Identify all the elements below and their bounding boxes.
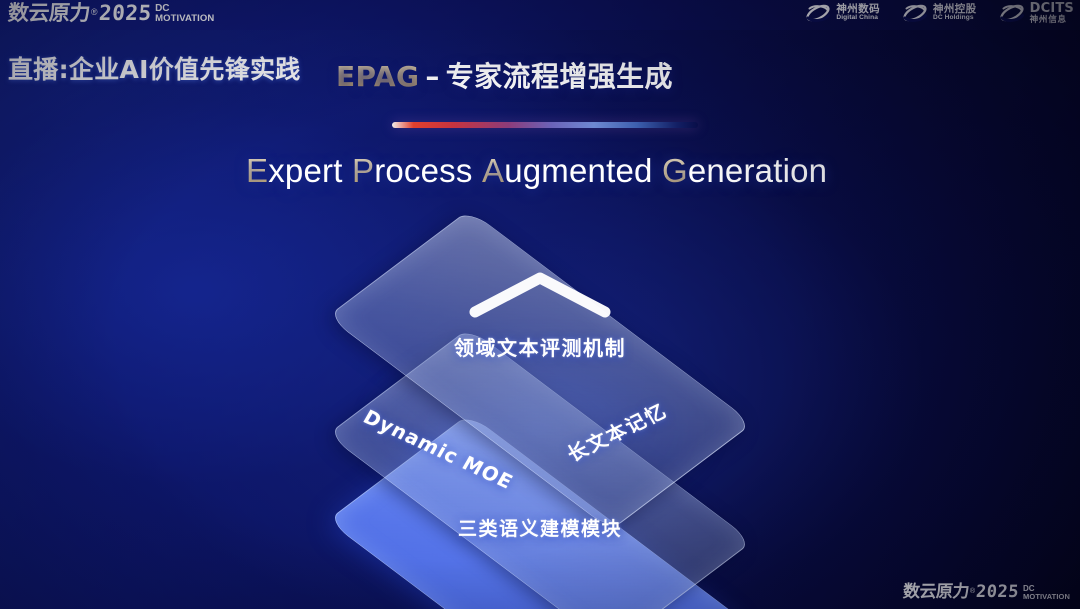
partner-logo-dcits: DCITS 神州信息 bbox=[999, 2, 1074, 24]
brand-logo-top: 数云原力® 2025 DC MOTIVATION bbox=[8, 3, 214, 24]
brand-year: 2025 bbox=[98, 3, 152, 24]
partner-logo-dc-holdings: 神州控股 DC Holdings bbox=[902, 2, 977, 24]
partner-logo-text: 神州数码 Digital China bbox=[836, 4, 880, 21]
partner-name-en: Digital China bbox=[836, 15, 880, 22]
title-separator: – bbox=[425, 60, 439, 93]
subtitle-cap-p: P bbox=[352, 152, 374, 189]
brand-chinese-name: 数云原力 bbox=[902, 584, 969, 601]
layer-label-top: 领域文本评测机制 bbox=[454, 332, 626, 361]
partner-name-cn: 神州信息 bbox=[1030, 15, 1074, 24]
brand-registered-mark: ® bbox=[91, 8, 98, 17]
subtitle-rest-process: rocess bbox=[374, 152, 472, 189]
partner-logo-text: DCITS 神州信息 bbox=[1030, 2, 1074, 24]
partner-logo-text: 神州控股 DC Holdings bbox=[933, 4, 977, 21]
layer-label-bottom: 三类语义建模模块 bbox=[458, 514, 622, 541]
partner-logo-digital-china: 神州数码 Digital China bbox=[805, 2, 880, 24]
gradient-divider bbox=[392, 122, 698, 128]
brand-motivation-label: MOTIVATION bbox=[1023, 593, 1070, 600]
chevron-up-icon bbox=[465, 266, 615, 322]
slide-canvas: 数云原力® 2025 DC MOTIVATION 神州数码 Digital Ch… bbox=[0, 0, 1080, 609]
brand-motivation-label: MOTIVATION bbox=[155, 14, 214, 23]
title-acronym: EPAG bbox=[336, 60, 419, 93]
brand-dc-motivation: DC MOTIVATION bbox=[1023, 585, 1070, 601]
swoosh-icon bbox=[999, 2, 1025, 24]
brand-dc-motivation: DC MOTIVATION bbox=[155, 4, 214, 24]
swoosh-icon bbox=[805, 2, 831, 24]
brand-chinese-name: 数云原力 bbox=[7, 3, 90, 24]
subtitle-rest-expert: xpert bbox=[268, 152, 342, 189]
brand-logo-watermark: 数云原力® 2025 DC MOTIVATION bbox=[903, 584, 1070, 601]
subtitle-rest-generation: eneration bbox=[688, 152, 827, 189]
subtitle-cap-e: E bbox=[246, 152, 268, 189]
subtitle-cap-g: G bbox=[662, 152, 688, 189]
page-title: EPAG–专家流程增强生成 bbox=[336, 55, 673, 95]
subtitle: Expert Process Augmented Generation bbox=[246, 152, 827, 190]
title-chinese: 专家流程增强生成 bbox=[446, 60, 673, 93]
partner-name-en: DC Holdings bbox=[933, 15, 977, 22]
swoosh-icon bbox=[902, 2, 928, 24]
live-strapline: 直播:企业AI价值先锋实践 bbox=[8, 50, 301, 86]
subtitle-rest-augmented: ugmented bbox=[504, 152, 652, 189]
brand-year: 2025 bbox=[975, 584, 1019, 601]
partner-name-en: DCITS bbox=[1030, 2, 1074, 15]
brand-registered-mark: ® bbox=[970, 588, 975, 595]
partner-logo-group: 神州数码 Digital China 神州控股 DC Holdings bbox=[805, 2, 1074, 24]
subtitle-cap-a: A bbox=[482, 152, 504, 189]
layered-architecture-diagram: 领域文本评测机制 Dynamic MOE 长文本记忆 三类语义建模模块 bbox=[250, 228, 830, 578]
